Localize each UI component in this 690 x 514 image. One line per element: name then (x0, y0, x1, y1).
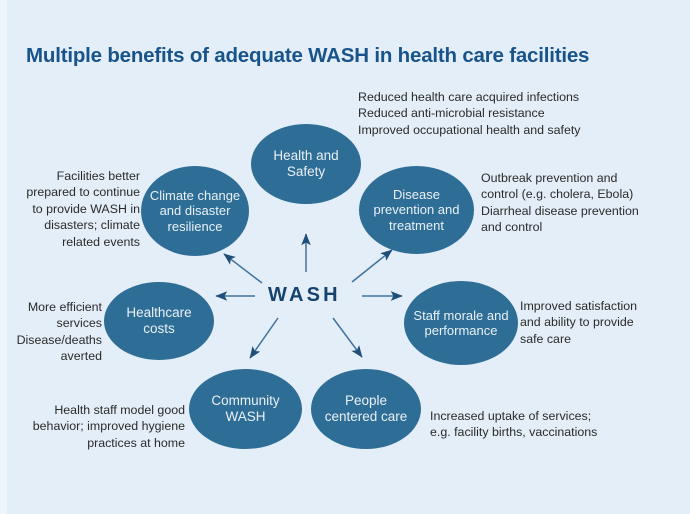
arrow-to-climate-change (224, 254, 262, 283)
arrow-to-community-wash (250, 318, 278, 358)
node-community-wash[interactable]: Community WASH (189, 369, 302, 449)
arrow-to-people-centered-care (333, 318, 362, 357)
node-staff-morale[interactable]: Staff morale and performance (404, 281, 518, 365)
note-staff-morale: Improved satisfaction and ability to pro… (520, 298, 637, 347)
node-people-centered-care[interactable]: People centered care (311, 369, 421, 449)
node-health-and-safety-label: Health and Safety (251, 148, 361, 179)
node-disease-prevention-label: Disease prevention and treatment (359, 187, 474, 232)
note-healthcare-costs: More efficient services Disease/deaths a… (10, 299, 102, 365)
node-healthcare-costs[interactable]: Healthcare costs (104, 282, 214, 360)
page-title: Multiple benefits of adequate WASH in he… (26, 44, 589, 68)
note-people-centered-care: Increased uptake of services; e.g. facil… (430, 408, 597, 441)
center-label: WASH (268, 284, 341, 307)
node-disease-prevention[interactable]: Disease prevention and treatment (359, 166, 474, 254)
node-climate-change[interactable]: Climate change and disaster resilience (141, 166, 249, 256)
node-community-wash-label: Community WASH (189, 393, 302, 424)
left-edge-strip (0, 0, 7, 514)
note-climate-change: Facilities better prepared to continue t… (18, 168, 140, 250)
node-staff-morale-label: Staff morale and performance (404, 308, 518, 338)
node-healthcare-costs-label: Healthcare costs (104, 305, 214, 336)
note-community-wash: Health staff model good behavior; improv… (30, 402, 185, 451)
node-climate-change-label: Climate change and disaster resilience (141, 188, 249, 233)
node-people-centered-care-label: People centered care (311, 393, 421, 424)
infographic-canvas: Multiple benefits of adequate WASH in he… (0, 0, 690, 514)
note-health-and-safety: Reduced health care acquired infections … (358, 89, 581, 138)
node-health-and-safety[interactable]: Health and Safety (251, 124, 361, 204)
arrow-to-disease-prevention (352, 250, 392, 282)
note-disease-prevention: Outbreak prevention and control (e.g. ch… (481, 170, 639, 236)
